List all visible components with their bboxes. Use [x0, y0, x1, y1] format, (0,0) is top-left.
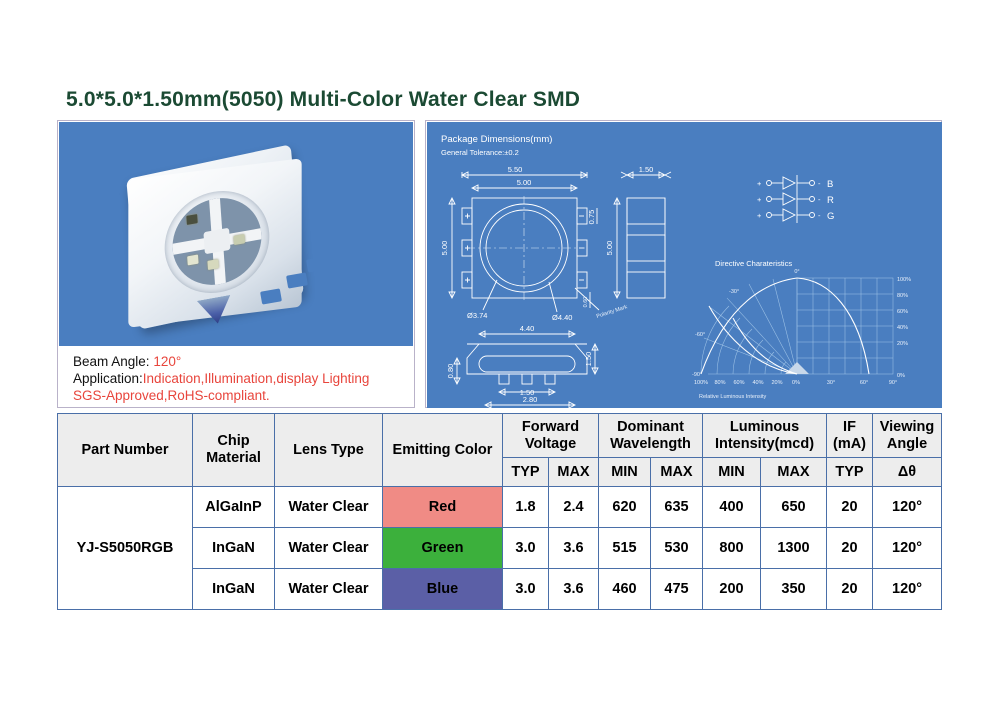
cell-vf-max: 3.6 — [549, 528, 599, 569]
cell-vf-typ: 3.0 — [503, 569, 549, 610]
th-viewing-angle: Viewing Angle — [873, 414, 942, 458]
beam-angle-label: Beam Angle: — [73, 354, 153, 369]
led-die — [186, 214, 197, 225]
cell-chip-material: InGaN — [193, 569, 275, 610]
table-row: YJ-S5050RGB AlGaInP Water Clear Red 1.8 … — [58, 487, 942, 528]
th-li-l2: Intensity(mcd) — [715, 436, 814, 452]
cell-iv-max: 1300 — [761, 528, 827, 569]
application-line: Application:Indication,Illumination,disp… — [73, 370, 413, 387]
page-title: 5.0*5.0*1.50mm(5050) Multi-Color Water C… — [66, 88, 580, 112]
led-package-illustration — [101, 140, 361, 340]
svg-text:80%: 80% — [897, 293, 908, 299]
cell-wl-min: 620 — [599, 487, 651, 528]
th-va-l2: Angle — [887, 436, 927, 452]
th-wl-max: MAX — [651, 458, 703, 487]
cell-vf-max: 3.6 — [549, 569, 599, 610]
cell-wl-max: 530 — [651, 528, 703, 569]
led-product-photo — [59, 122, 413, 346]
svg-text:0.60: 0.60 — [583, 297, 589, 308]
led-die — [234, 234, 245, 245]
th-part-number: Part Number — [58, 414, 193, 487]
th-chip-material: Chip Material — [193, 414, 275, 487]
svg-text:60%: 60% — [733, 380, 744, 386]
datasheet-page: 5.0*5.0*1.50mm(5050) Multi-Color Water C… — [0, 0, 1000, 720]
cell-chip-material: AlGaInP — [193, 487, 275, 528]
th-va-l1: Viewing — [880, 419, 935, 435]
th-if: IF (mA) — [827, 414, 873, 458]
cell-vf-max: 2.4 — [549, 487, 599, 528]
th-wl-min: MIN — [599, 458, 651, 487]
cell-emitting-color: Blue — [383, 569, 503, 610]
th-iv-min: MIN — [703, 458, 761, 487]
cell-lens-type: Water Clear — [275, 528, 383, 569]
th-vf-typ: TYP — [503, 458, 549, 487]
th-lens-type: Lens Type — [275, 414, 383, 487]
th-li-l1: Luminous — [730, 419, 799, 435]
svg-text:-: - — [818, 211, 821, 220]
specification-table: Part Number Chip Material Lens Type Emit… — [57, 413, 942, 610]
svg-text:-30°: -30° — [729, 289, 739, 295]
svg-text:60°: 60° — [860, 380, 868, 386]
led-die — [207, 259, 218, 270]
cell-lens-type: Water Clear — [275, 487, 383, 528]
application-label: Application: — [73, 371, 143, 386]
svg-text:0%: 0% — [897, 373, 905, 379]
svg-text:90°: 90° — [889, 380, 897, 386]
th-if-typ: TYP — [827, 458, 873, 487]
svg-text:5.00: 5.00 — [440, 241, 449, 256]
svg-text:Ø3.74: Ø3.74 — [467, 311, 487, 320]
cell-emitting-color: Green — [383, 528, 503, 569]
lead-frame-pad — [203, 228, 230, 255]
cell-viewing-angle: 120° — [873, 528, 942, 569]
table-header: Part Number Chip Material Lens Type Emit… — [58, 414, 942, 487]
th-dw-l1: Dominant — [617, 419, 684, 435]
blueprint-svg: .ln{stroke:#ffffff;stroke-width:0.9;fill… — [427, 122, 942, 408]
th-fv-l1: Forward — [522, 419, 579, 435]
svg-text:5.00: 5.00 — [605, 241, 614, 256]
cell-iv-max: 350 — [761, 569, 827, 610]
cell-part-number: YJ-S5050RGB — [58, 487, 193, 610]
th-iv-max: MAX — [761, 458, 827, 487]
svg-text:+: + — [757, 211, 762, 220]
svg-text:G: G — [827, 211, 834, 222]
cell-if-typ: 20 — [827, 528, 873, 569]
table-body: YJ-S5050RGB AlGaInP Water Clear Red 1.8 … — [58, 487, 942, 610]
svg-text:100%: 100% — [694, 380, 708, 386]
cell-vf-typ: 3.0 — [503, 528, 549, 569]
svg-text:0%: 0% — [792, 380, 800, 386]
th-dominant-wavelength: Dominant Wavelength — [599, 414, 703, 458]
cell-chip-material: InGaN — [193, 528, 275, 569]
svg-text:5.50: 5.50 — [508, 165, 523, 174]
product-info-text: Beam Angle: 120° Application:Indication,… — [59, 347, 413, 407]
svg-text:0.75: 0.75 — [587, 210, 596, 225]
led-die — [187, 255, 198, 266]
svg-text:+: + — [757, 179, 762, 188]
svg-text:R: R — [827, 195, 834, 206]
svg-text:-: - — [818, 195, 821, 204]
svg-text:0.80: 0.80 — [446, 364, 455, 379]
cell-wl-max: 475 — [651, 569, 703, 610]
cell-iv-min: 800 — [703, 528, 761, 569]
cell-emitting-color: Red — [383, 487, 503, 528]
compliance-line: SGS-Approved,RoHS-compliant. — [73, 387, 413, 404]
svg-text:5.00: 5.00 — [517, 178, 532, 187]
svg-text:30°: 30° — [827, 380, 835, 386]
svg-text:Relative Luminous Intensity: Relative Luminous Intensity — [699, 394, 767, 400]
svg-text:40%: 40% — [752, 380, 763, 386]
polarity-circuit-diagram: + - B + - — [757, 175, 834, 223]
beam-angle-line: Beam Angle: 120° — [73, 353, 413, 370]
beam-angle-value: 120° — [153, 354, 181, 369]
th-emitting-color: Emitting Color — [383, 414, 503, 487]
svg-text:Directive Charateristics: Directive Charateristics — [715, 259, 792, 268]
product-photo-panel: Beam Angle: 120° Application:Indication,… — [57, 120, 415, 408]
cell-viewing-angle: 120° — [873, 487, 942, 528]
svg-text:0°: 0° — [794, 269, 799, 275]
svg-text:20%: 20% — [897, 341, 908, 347]
svg-text:1.50: 1.50 — [639, 165, 654, 174]
svg-text:-: - — [818, 179, 821, 188]
svg-text:80%: 80% — [714, 380, 725, 386]
th-if-l2: (mA) — [833, 436, 866, 452]
th-va-symbol: Δθ — [873, 458, 942, 487]
svg-text:Ø4.40: Ø4.40 — [552, 313, 572, 322]
diagram-heading: Package Dimensions(mm) — [441, 134, 552, 145]
diagram-tolerance: General Tolerance:±0.2 — [441, 148, 519, 157]
svg-text:Polarity Mark: Polarity Mark — [596, 304, 629, 320]
svg-text:100%: 100% — [897, 277, 911, 283]
svg-text:40%: 40% — [897, 325, 908, 331]
th-vf-max: MAX — [549, 458, 599, 487]
th-chip-material-l2: Material — [206, 450, 261, 466]
svg-text:1.50: 1.50 — [584, 352, 593, 367]
svg-text:20%: 20% — [771, 380, 782, 386]
table-header-row-top: Part Number Chip Material Lens Type Emit… — [58, 414, 942, 458]
svg-text:B: B — [827, 179, 833, 190]
th-fv-l2: Voltage — [525, 436, 576, 452]
svg-text:-90°: -90° — [692, 372, 702, 378]
cell-wl-max: 635 — [651, 487, 703, 528]
svg-text:60%: 60% — [897, 309, 908, 315]
th-luminous-intensity: Luminous Intensity(mcd) — [703, 414, 827, 458]
cell-iv-min: 200 — [703, 569, 761, 610]
cell-viewing-angle: 120° — [873, 569, 942, 610]
cell-if-typ: 20 — [827, 569, 873, 610]
blueprint-diagram: .ln{stroke:#ffffff;stroke-width:0.9;fill… — [427, 122, 942, 408]
cell-if-typ: 20 — [827, 487, 873, 528]
directive-characteristics-chart: Directive Charateristics — [692, 259, 911, 400]
package-dimensions-panel: .ln{stroke:#ffffff;stroke-width:0.9;fill… — [425, 120, 942, 408]
svg-text:+: + — [757, 195, 762, 204]
th-chip-material-l1: Chip — [217, 433, 249, 449]
th-dw-l2: Wavelength — [610, 436, 691, 452]
cell-wl-min: 515 — [599, 528, 651, 569]
cell-vf-typ: 1.8 — [503, 487, 549, 528]
cell-wl-min: 460 — [599, 569, 651, 610]
cell-iv-max: 650 — [761, 487, 827, 528]
led-notch — [306, 256, 328, 272]
application-value: Indication,Illumination,display Lighting — [143, 371, 370, 386]
led-notch — [286, 272, 308, 288]
cell-iv-min: 400 — [703, 487, 761, 528]
cell-lens-type: Water Clear — [275, 569, 383, 610]
svg-text:4.40: 4.40 — [520, 324, 535, 333]
svg-text:-60°: -60° — [695, 332, 705, 338]
th-forward-voltage: Forward Voltage — [503, 414, 599, 458]
svg-text:2.80: 2.80 — [523, 395, 538, 404]
th-if-l1: IF — [843, 419, 856, 435]
